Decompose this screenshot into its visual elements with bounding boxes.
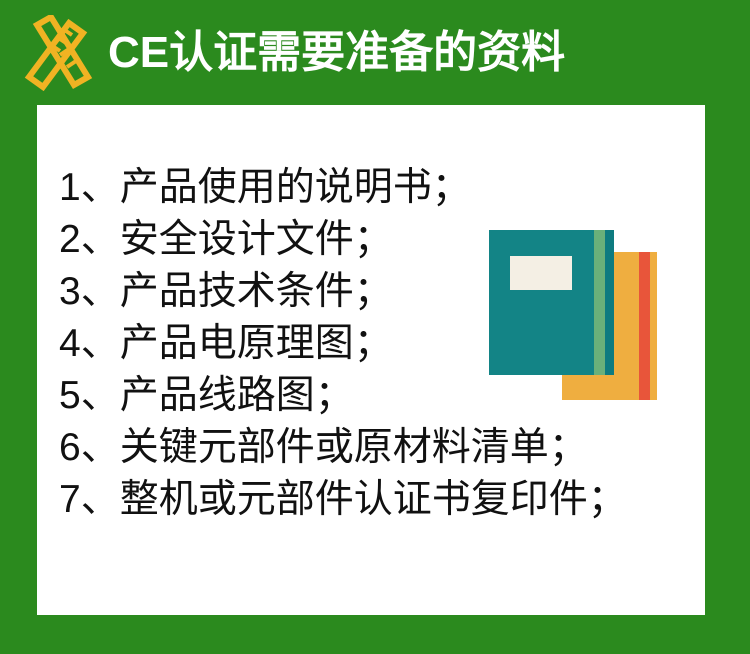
list-item-number: 1、 xyxy=(59,162,120,214)
poster-header: CE认证需要准备的资料 xyxy=(0,0,750,105)
list-item-label: 安全设计文件； xyxy=(120,214,393,266)
list-item-number: 6、 xyxy=(59,422,120,474)
list-item-number: 7、 xyxy=(59,474,120,526)
list-item: 6、 关键元部件或原材料清单； xyxy=(59,422,699,474)
poster-root: CE认证需要准备的资料 1、 产品使用的说明书； 2、 安全设计文件； 3、 xyxy=(0,0,750,654)
list-item: 2、 安全设计文件； xyxy=(59,214,699,266)
list-item-label: 产品线路图； xyxy=(120,370,354,422)
list-item: 5、 产品线路图； xyxy=(59,370,699,422)
page-title: CE认证需要准备的资料 xyxy=(108,31,565,75)
list-item: 7、 整机或元部件认证书复印件； xyxy=(59,474,699,526)
list-item: 1、 产品使用的说明书； xyxy=(59,162,699,214)
list-item: 4、 产品电原理图； xyxy=(59,318,699,370)
list-item-label: 产品电原理图； xyxy=(120,318,393,370)
list-item-number: 3、 xyxy=(59,266,120,318)
requirements-list: 1、 产品使用的说明书； 2、 安全设计文件； 3、 产品技术条件； 4、 产品… xyxy=(59,162,699,526)
content-card: 1、 产品使用的说明书； 2、 安全设计文件； 3、 产品技术条件； 4、 产品… xyxy=(37,105,705,615)
list-item-number: 2、 xyxy=(59,214,120,266)
list-item-number: 5、 xyxy=(59,370,120,422)
list-item-label: 产品使用的说明书； xyxy=(120,162,471,214)
list-item-number: 4、 xyxy=(59,318,120,370)
list-item-label: 整机或元部件认证书复印件； xyxy=(120,474,627,526)
list-item-label: 产品技术条件； xyxy=(120,266,393,318)
list-item-label: 关键元部件或原材料清单； xyxy=(120,422,588,474)
crossed-rulers-icon xyxy=(22,15,94,91)
list-item: 3、 产品技术条件； xyxy=(59,266,699,318)
